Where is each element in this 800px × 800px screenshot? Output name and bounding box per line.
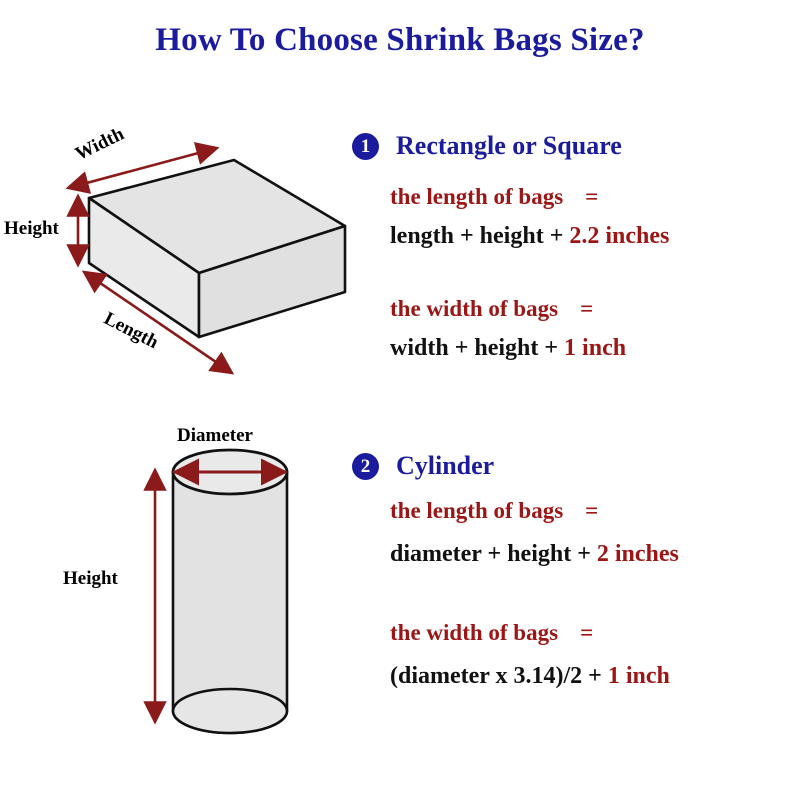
equals-sign-2: = <box>580 296 593 322</box>
length-formula-plain-2: diameter + height + <box>390 541 597 567</box>
length-formula-highlight-2: 2 inches <box>597 541 679 567</box>
section-2-formula-1-label-row: the length of bags= <box>390 498 800 524</box>
instructions-column: 1 Rectangle or Square the length of bags… <box>350 0 800 800</box>
width-of-bags-text-2: the width of bags <box>390 620 558 645</box>
equals-sign-1: = <box>585 184 598 210</box>
length-formula-plain-1: length + height + <box>390 223 569 249</box>
box-shape <box>89 160 345 337</box>
width-formula-expression-1: width + height + 1 inch <box>390 335 626 361</box>
section-cylinder: 2 Cylinder the length of bags= diameter … <box>350 448 800 484</box>
equals-sign-3: = <box>585 498 598 524</box>
section-1-formula-2-expression-row: width + height + 1 inch <box>390 335 800 362</box>
length-formula-highlight-1: 2.2 inches <box>569 223 669 249</box>
equals-sign-4: = <box>580 620 593 646</box>
box-width-label: Width <box>72 123 128 165</box>
width-formula-plain-2: (diameter x 3.14)/2 + <box>390 663 608 689</box>
length-formula-expression-1: length + height + 2.2 inches <box>390 223 669 249</box>
section-rectangle-or-square: 1 Rectangle or Square the length of bags… <box>350 128 800 164</box>
length-of-bags-label-2: the length of bags= <box>390 498 598 523</box>
length-of-bags-text-2: the length of bags <box>390 498 563 523</box>
width-of-bags-label-1: the width of bags= <box>390 296 593 321</box>
cylinder-height-label: Height <box>63 568 118 590</box>
length-of-bags-label-1: the length of bags= <box>390 184 598 209</box>
section-2-formula-1-expression-row: diameter + height + 2 inches <box>390 541 800 568</box>
width-of-bags-label-2: the width of bags= <box>390 620 593 645</box>
section-1-title: Rectangle or Square <box>396 131 622 161</box>
section-1-formula-1-expression-row: length + height + 2.2 inches <box>390 223 800 250</box>
infographic-page: How To Choose Shrink Bags Size? <box>0 0 800 800</box>
section-1-number-badge: 1 <box>352 133 379 160</box>
section-2-formula-2-label-row: the width of bags= <box>390 620 800 646</box>
section-2-formula-2-expression-row: (diameter x 3.14)/2 + 1 inch <box>390 663 800 690</box>
width-formula-expression-2: (diameter x 3.14)/2 + 1 inch <box>390 663 670 689</box>
box-height-label: Height <box>4 218 59 240</box>
width-formula-highlight-2: 1 inch <box>608 663 670 689</box>
section-2-title: Cylinder <box>396 451 494 481</box>
section-2-heading-row: 2 Cylinder <box>350 448 800 484</box>
width-of-bags-text-1: the width of bags <box>390 296 558 321</box>
cylinder-shape <box>173 450 287 733</box>
length-formula-expression-2: diameter + height + 2 inches <box>390 541 679 567</box>
width-formula-highlight-1: 1 inch <box>564 335 626 361</box>
width-formula-plain-1: width + height + <box>390 335 564 361</box>
section-1-formula-1-label-row: the length of bags= <box>390 184 800 210</box>
cylinder-diameter-label: Diameter <box>177 425 253 447</box>
box-length-label: Length <box>100 308 162 354</box>
section-2-number-badge: 2 <box>352 453 379 480</box>
section-1-formula-2-label-row: the width of bags= <box>390 296 800 322</box>
length-of-bags-text-1: the length of bags <box>390 184 563 209</box>
section-1-heading-row: 1 Rectangle or Square <box>350 128 800 164</box>
